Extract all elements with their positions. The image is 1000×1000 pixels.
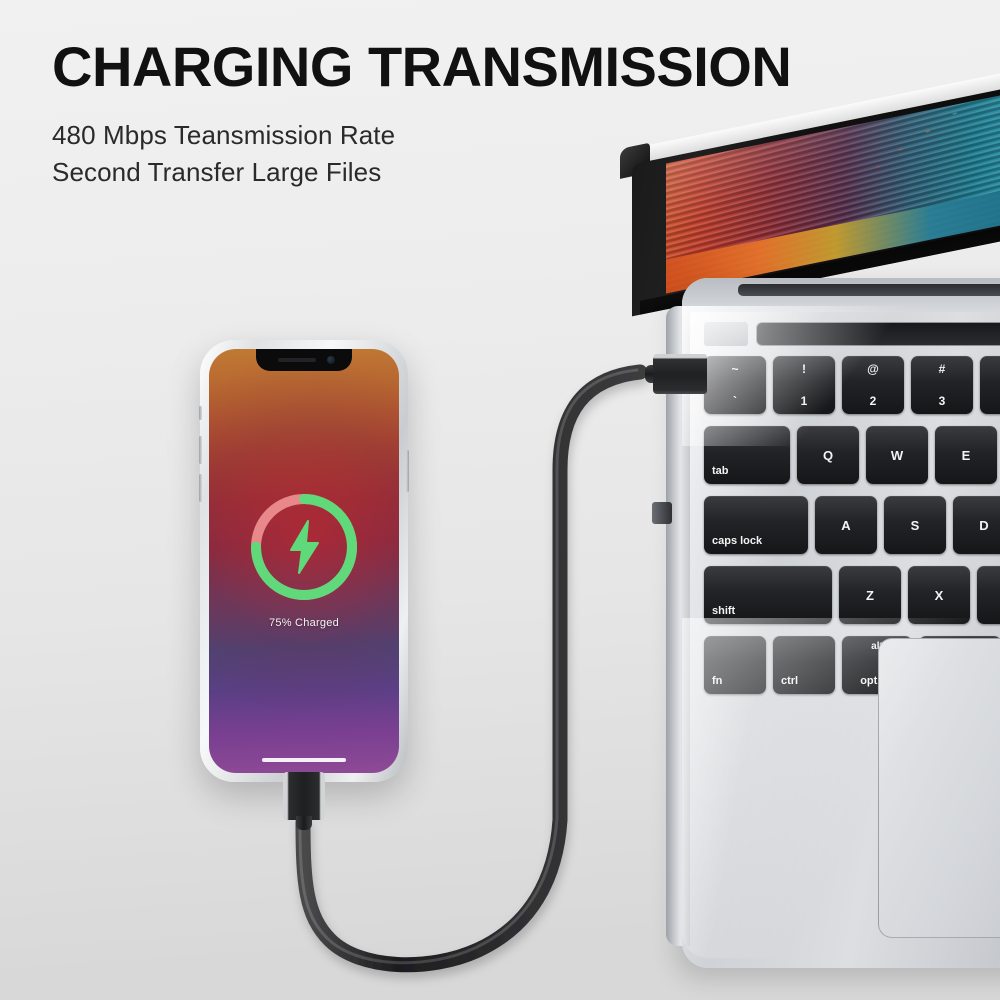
key-tilde-upper-legend: ~ <box>704 363 766 375</box>
connector-body <box>653 354 707 394</box>
earpiece-speaker-icon <box>278 358 316 362</box>
connector-body <box>283 772 325 820</box>
key-tilde[interactable]: ~` <box>704 356 766 414</box>
key-2[interactable]: @2 <box>842 356 904 414</box>
key-c[interactable]: C <box>977 566 1000 624</box>
key-4[interactable]: $4 <box>980 356 1000 414</box>
phone-silent-switch[interactable] <box>199 406 202 420</box>
key-1[interactable]: !1 <box>773 356 835 414</box>
key-e[interactable]: E <box>935 426 997 484</box>
product-marketing-image: CHARGING TRANSMISSION 480 Mbps Teansmiss… <box>0 0 1000 1000</box>
key-4-lower-legend: 4 <box>980 395 1000 407</box>
key-q-legend: Q <box>797 426 859 484</box>
phone-screen: 75% Charged <box>209 349 399 773</box>
smartphone: 75% Charged <box>200 340 408 782</box>
home-indicator[interactable] <box>262 758 346 762</box>
key-shift[interactable]: shift <box>704 566 832 624</box>
subtitle-line-1: 480 Mbps Teansmission Rate <box>52 117 912 154</box>
key-w-legend: W <box>866 426 928 484</box>
front-camera-icon <box>327 356 335 364</box>
lightning-bolt-icon <box>282 519 326 575</box>
laptop-left-edge <box>666 306 690 946</box>
key-d[interactable]: D <box>953 496 1000 554</box>
key-caps-lock[interactable]: caps lock <box>704 496 808 554</box>
touch-bar[interactable] <box>756 322 1000 346</box>
key-q[interactable]: Q <box>797 426 859 484</box>
key-3-lower-legend: 3 <box>911 395 973 407</box>
key-3-upper-legend: # <box>911 363 973 375</box>
usb-c-port[interactable] <box>652 502 672 524</box>
key-a[interactable]: A <box>815 496 877 554</box>
keyboard-left-pad <box>704 322 748 346</box>
headline-block: CHARGING TRANSMISSION 480 Mbps Teansmiss… <box>52 38 912 191</box>
key-1-lower-legend: 1 <box>773 395 835 407</box>
key-1-upper-legend: ! <box>773 363 835 375</box>
laptop-hinge <box>738 284 1000 296</box>
key-2-lower-legend: 2 <box>842 395 904 407</box>
key-z[interactable]: Z <box>839 566 901 624</box>
key-x[interactable]: X <box>908 566 970 624</box>
phone-volume-down-button[interactable] <box>199 474 202 502</box>
key-3[interactable]: #3 <box>911 356 973 414</box>
keyboard-row-shift-row: shiftZXC <box>704 566 1000 624</box>
key-w[interactable]: W <box>866 426 928 484</box>
keyboard-row-home-row: caps lockASDF <box>704 496 1000 554</box>
connector-strain-relief <box>296 816 312 830</box>
charge-status-label: 75% Charged <box>209 617 399 629</box>
key-shift-legend: shift <box>712 606 735 617</box>
charging-ring <box>244 487 364 607</box>
laptop-base: ~`!1@2#3$4tabQWERcaps lockASDFshiftZXCfn… <box>682 278 1000 968</box>
key-s-legend: S <box>884 496 946 554</box>
keyboard-row-qwerty-row: tabQWER <box>704 426 1000 484</box>
trackpad[interactable] <box>878 638 1000 938</box>
key-2-upper-legend: @ <box>842 363 904 375</box>
keyboard-row-number-row: ~`!1@2#3$4 <box>704 356 1000 414</box>
key-tab[interactable]: tab <box>704 426 790 484</box>
key-caps-lock-legend: caps lock <box>712 536 762 547</box>
key-ctrl-legend: ctrl <box>781 676 798 687</box>
key-x-legend: X <box>908 566 970 624</box>
key-c-legend: C <box>977 566 1000 624</box>
key-ctrl[interactable]: ctrl <box>773 636 835 694</box>
key-fn-legend: fn <box>712 676 722 687</box>
phone-power-button[interactable] <box>406 450 409 492</box>
key-s[interactable]: S <box>884 496 946 554</box>
key-4-upper-legend: $ <box>980 363 1000 375</box>
key-tab-legend: tab <box>712 466 729 477</box>
key-tilde-lower-legend: ` <box>704 395 766 407</box>
subtitle-line-2: Second Transfer Large Files <box>52 154 912 191</box>
usb-c-connector-laptop-end <box>645 354 707 394</box>
subtitle-block: 480 Mbps Teansmission Rate Second Transf… <box>52 117 912 191</box>
usb-c-connector-phone-end <box>283 772 325 828</box>
laptop-keyboard[interactable]: ~`!1@2#3$4tabQWERcaps lockASDFshiftZXCfn… <box>704 322 1000 612</box>
key-e-legend: E <box>935 426 997 484</box>
key-fn[interactable]: fn <box>704 636 766 694</box>
key-d-legend: D <box>953 496 1000 554</box>
page-title: CHARGING TRANSMISSION <box>52 38 912 95</box>
laptop: ~`!1@2#3$4tabQWERcaps lockASDFshiftZXCfn… <box>612 160 1000 940</box>
key-a-legend: A <box>815 496 877 554</box>
phone-notch <box>256 349 352 371</box>
key-z-legend: Z <box>839 566 901 624</box>
phone-volume-up-button[interactable] <box>199 436 202 464</box>
laptop-top-deck <box>682 278 1000 312</box>
